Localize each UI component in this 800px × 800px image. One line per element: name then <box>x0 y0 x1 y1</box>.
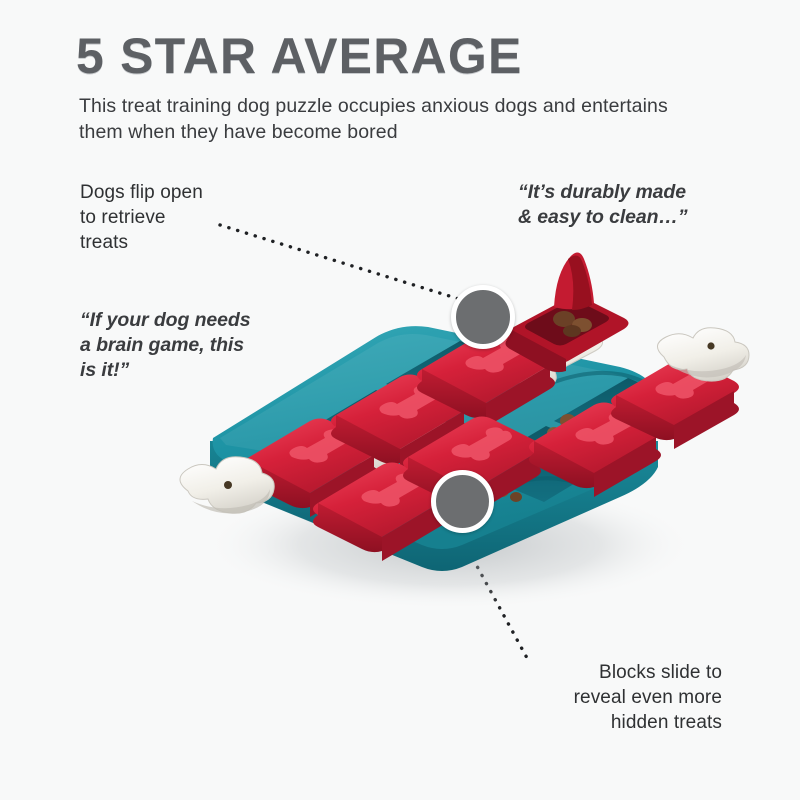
callout-flip-open: Dogs flip open to retrieve treats <box>80 180 300 255</box>
callout-blocks-slide-line3: hidden treats <box>512 710 722 735</box>
quote-durable-line1: “It’s durably made <box>518 180 743 205</box>
open-lid-block <box>506 252 629 372</box>
page-title: 5 STAR AVERAGE <box>76 30 736 83</box>
blocks-slide-marker[interactable] <box>431 470 494 533</box>
product-image <box>150 245 750 625</box>
quote-durable-line2: & easy to clean…” <box>518 205 743 230</box>
callout-flip-open-line1: Dogs flip open <box>80 180 300 205</box>
quote-durable: “It’s durably made & easy to clean…” <box>518 180 743 230</box>
callout-blocks-slide-line2: reveal even more <box>512 685 722 710</box>
callout-blocks-slide: Blocks slide to reveal even more hidden … <box>512 660 722 735</box>
quote-brain-game-line2: a brain game, this <box>80 333 305 358</box>
callout-flip-open-line2: to retrieve <box>80 205 300 230</box>
infographic-canvas: 5 STAR AVERAGE This treat training dog p… <box>0 0 800 800</box>
quote-brain-game-line3: is it!” <box>80 358 305 383</box>
page-subtitle: This treat training dog puzzle occupies … <box>79 93 679 145</box>
quote-brain-game: “If your dog needs a brain game, this is… <box>80 308 305 383</box>
quote-brain-game-line1: “If your dog needs <box>80 308 305 333</box>
callout-blocks-slide-line1: Blocks slide to <box>512 660 722 685</box>
callout-flip-open-line3: treats <box>80 230 300 255</box>
flip-open-marker[interactable] <box>451 285 515 349</box>
